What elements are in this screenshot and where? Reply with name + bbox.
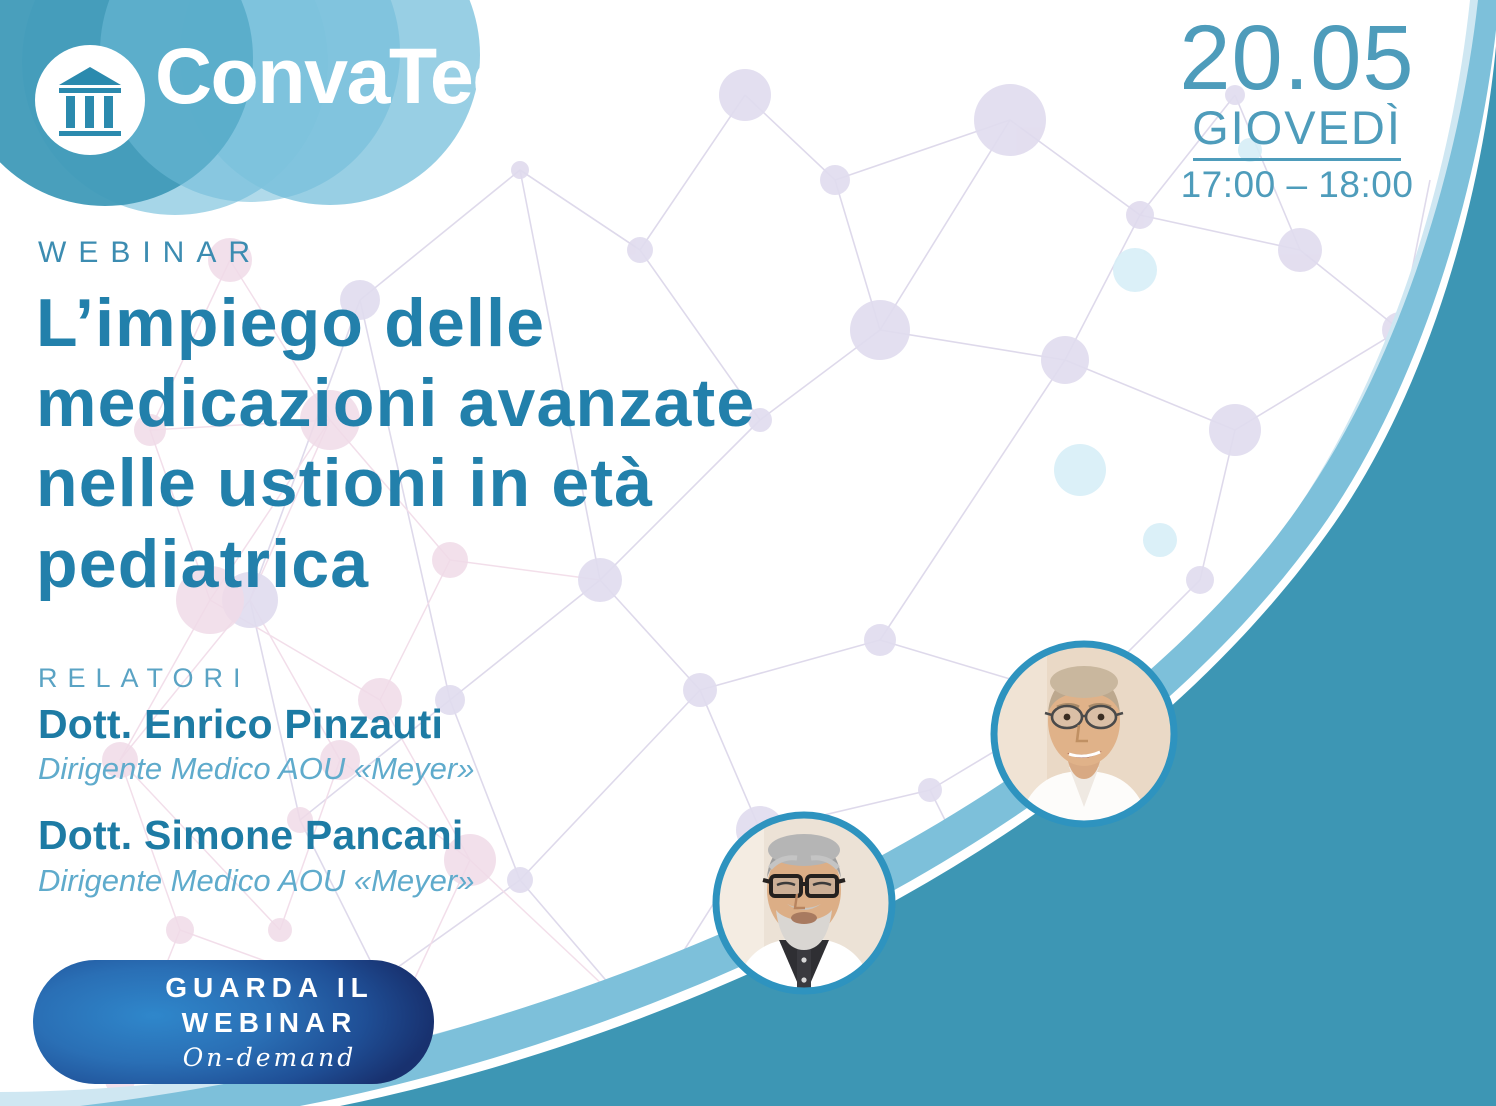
date-divider [1193,158,1401,161]
watch-webinar-button[interactable]: GUARDA IL WEBINAR On-demand [33,960,434,1084]
title-line: medicazioni avanzate [36,363,996,443]
speaker-item: Dott. Enrico Pinzauti Dirigente Medico A… [38,700,658,789]
cta-line-2: WEBINAR [182,1005,358,1040]
cta-line-1: GUARDA IL [165,970,374,1005]
event-weekday: GIOVEDÌ [1152,102,1442,155]
speaker-name: Dott. Enrico Pinzauti [38,700,658,749]
page-title: L’impiego delle medicazioni avanzate nel… [36,283,996,604]
eyebrow-label: WEBINAR [38,236,262,270]
webinar-poster: ConvaTec 20.05 GIOVEDÌ 17:00 – 18:00 WEB… [0,0,1496,1106]
title-line: pediatrica [36,524,996,604]
brand-name: ConvaTec [155,36,515,115]
title-line: nelle ustioni in età [36,443,996,523]
speaker-name: Dott. Simone Pancani [38,811,658,860]
event-date: 20.05 [1152,14,1442,102]
speakers-label: RELATORI [38,663,658,694]
portrait-simone-pancani [709,808,899,998]
speakers-section: RELATORI Dott. Enrico Pinzauti Dirigente… [38,663,658,923]
speaker-item: Dott. Simone Pancani Dirigente Medico AO… [38,811,658,900]
classical-building-icon [33,43,147,157]
event-date-block: 20.05 GIOVEDÌ 17:00 – 18:00 [1152,14,1442,206]
speaker-role: Dirigente Medico AOU «Meyer» [38,749,658,789]
title-line: L’impiego delle [36,283,996,363]
event-time-range: 17:00 – 18:00 [1152,165,1442,206]
speaker-role: Dirigente Medico AOU «Meyer» [38,861,658,901]
brand-logo: ConvaTec [0,0,500,215]
portrait-enrico-pinzauti [987,637,1181,831]
cta-subtitle: On-demand [183,1040,357,1075]
